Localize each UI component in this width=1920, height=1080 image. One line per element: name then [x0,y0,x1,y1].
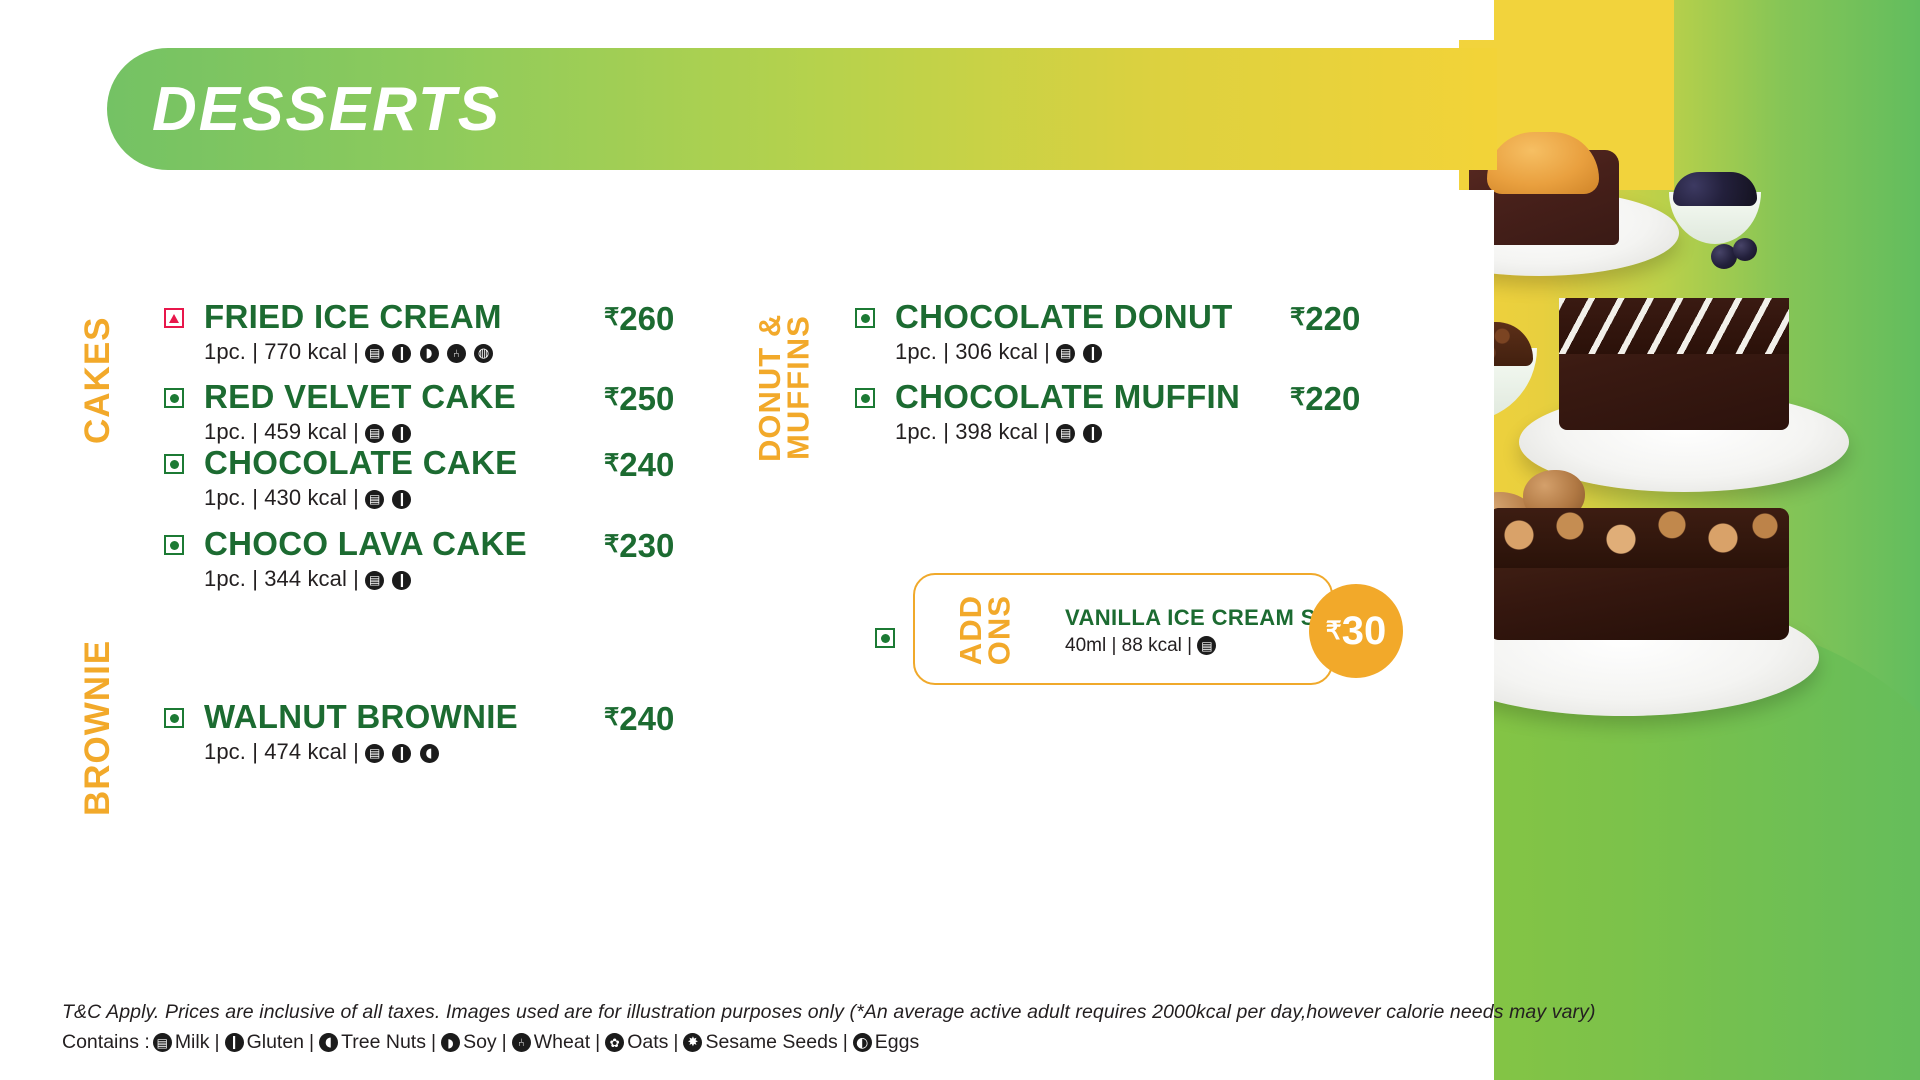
tree-nuts-icon: ◗ [420,344,439,363]
item-name: CHOCOLATE DONUT [895,298,1233,335]
walnut-3 [1523,470,1585,522]
tree-nuts-icon: ◖ [420,744,439,763]
item-name: CHOCO LAVA CAKE [204,525,527,562]
legend-separator: | [309,1031,314,1054]
nonveg-marker-icon [164,308,184,328]
addons-label: ADD ONS [957,595,1014,665]
blueberry-loose-1 [1711,244,1737,269]
gluten-icon: ❙ [1083,424,1102,443]
veg-marker-icon [164,454,184,474]
legend-label: Tree Nuts [341,1031,426,1054]
menu-item-chocolate-donut[interactable]: CHOCOLATE DONUT 1pc. | 306 kcal | ▤ ❙ ₹2… [855,300,1435,365]
milk-icon: ▤ [1056,344,1075,363]
item-price: ₹220 [1290,380,1360,418]
gluten-icon: ❙ [392,490,411,509]
item-price: ₹230 [604,527,674,565]
page-title: DESSERTS [152,74,501,145]
eggs-icon: ◐ [853,1033,872,1052]
gluten-icon: ❙ [392,344,411,363]
veg-marker-icon [855,308,875,328]
addons-box[interactable]: ADD ONS VANILLA ICE CREAM SCOOP 40ml | 8… [913,573,1333,685]
item-name: CHOCOLATE CAKE [204,444,517,481]
legend-label: Sesame Seeds [705,1031,837,1054]
menu-item-walnut-brownie[interactable]: WALNUT BROWNIE 1pc. | 474 kcal | ▤ ❙ ◖ ₹… [164,700,724,765]
item-price: ₹220 [1290,300,1360,338]
legend-label: Gluten [247,1031,304,1054]
milk-icon: ▤ [153,1033,172,1052]
addons-price-badge: ₹30 [1309,584,1403,678]
legend-separator: | [843,1031,848,1054]
item-price: ₹240 [604,700,674,738]
category-label-donut-muffins: DONUT & MUFFINS [756,288,813,488]
milk-icon: ▤ [1056,424,1075,443]
item-price: ₹260 [604,300,674,338]
item-details: 1pc. | 430 kcal | ▤ ❙ [204,485,517,511]
legend-label: Milk [175,1031,210,1054]
item-price: ₹250 [604,380,674,418]
gradient-band [1459,0,1920,1080]
gluten-icon: ❙ [392,744,411,763]
item-name: FRIED ICE CREAM [204,298,502,335]
milk-icon: ▤ [365,571,384,590]
legend-label: Oats [627,1031,668,1054]
terms-text: T&C Apply. Prices are inclusive of all t… [62,1001,1596,1024]
gluten-icon: ❙ [392,571,411,590]
item-details: 1pc. | 306 kcal | ▤ ❙ [895,339,1233,365]
item-details: 1pc. | 770 kcal | ▤ ❙ ◗ ⑃ ◍ [204,339,502,365]
chocolate-cake-slice [1559,298,1789,430]
milk-icon: ▤ [365,344,384,363]
page-header-pill: DESSERTS [107,48,1497,170]
tree-nuts-icon: ◖ [319,1033,338,1052]
menu-item-choco-lava-cake[interactable]: CHOCO LAVA CAKE 1pc. | 344 kcal | ▤ ❙ ₹2… [164,527,724,592]
item-name: WALNUT BROWNIE [204,698,518,735]
veg-marker-icon [164,388,184,408]
legend-separator: | [214,1031,219,1054]
legend-separator: | [431,1031,436,1054]
soy-icon: ◗ [441,1033,460,1052]
cake-glaze-drizzle [1559,298,1789,354]
cake-slice-plate [1519,392,1849,492]
decorative-food-panel [1459,0,1920,1080]
milk-icon: ▤ [365,744,384,763]
item-name: RED VELVET CAKE [204,378,516,415]
menu-item-chocolate-cake[interactable]: CHOCOLATE CAKE 1pc. | 430 kcal | ▤ ❙ ₹24… [164,446,724,511]
gluten-icon: ❙ [225,1033,244,1052]
blueberry-loose-2 [1733,238,1757,261]
item-name: CHOCOLATE MUFFIN [895,378,1240,415]
footer: T&C Apply. Prices are inclusive of all t… [62,1001,1596,1054]
sesame-seeds-icon: ◍ [474,344,493,363]
sesame-seeds-icon: ✸ [683,1033,702,1052]
allergen-legend: Contains : ▤ Milk | ❙ Gluten | ◖ Tree Nu… [62,1031,1596,1054]
panel-white-side-mask [1459,190,1494,1080]
legend-separator: | [502,1031,507,1054]
wheat-icon: ⑃ [512,1033,531,1052]
blueberry-bowl [1669,192,1761,244]
category-label-cakes: CAKES [82,300,114,460]
oats-icon: ✿ [605,1033,624,1052]
legend-label: Eggs [875,1031,919,1054]
contains-label: Contains : [62,1031,150,1054]
milk-icon: ▤ [365,490,384,509]
wheat-icon: ⑃ [447,344,466,363]
milk-icon: ▤ [365,424,384,443]
muffin-top [1487,132,1599,194]
milk-icon: ▤ [1197,636,1216,655]
legend-separator: | [673,1031,678,1054]
veg-marker-icon [875,628,895,648]
item-price: ₹240 [604,446,674,484]
item-details: 1pc. | 398 kcal | ▤ ❙ [895,419,1240,445]
veg-marker-icon [164,535,184,555]
category-label-brownie: BROWNIE [82,618,114,838]
gluten-icon: ❙ [392,424,411,443]
legend-label: Soy [463,1031,497,1054]
legend-separator: | [595,1031,600,1054]
gluten-icon: ❙ [1083,344,1102,363]
menu-item-fried-ice-cream[interactable]: FRIED ICE CREAM 1pc. | 770 kcal | ▤ ❙ ◗ … [164,300,724,365]
brownie-walnut-topping [1489,508,1789,568]
blueberries [1673,172,1757,206]
menu-item-chocolate-muffin[interactable]: CHOCOLATE MUFFIN 1pc. | 398 kcal | ▤ ❙ ₹… [855,380,1435,445]
item-details: 1pc. | 459 kcal | ▤ ❙ [204,419,516,445]
veg-marker-icon [164,708,184,728]
item-details: 1pc. | 344 kcal | ▤ ❙ [204,566,527,592]
walnut-brownie-photo [1489,508,1789,640]
veg-marker-icon [855,388,875,408]
item-details: 1pc. | 474 kcal | ▤ ❙ ◖ [204,739,518,765]
menu-item-red-velvet-cake[interactable]: RED VELVET CAKE 1pc. | 459 kcal | ▤ ❙ ₹2… [164,380,724,445]
legend-label: Wheat [534,1031,590,1054]
brownie-plate [1459,598,1819,716]
panel-white-top-mask [1459,0,1494,40]
